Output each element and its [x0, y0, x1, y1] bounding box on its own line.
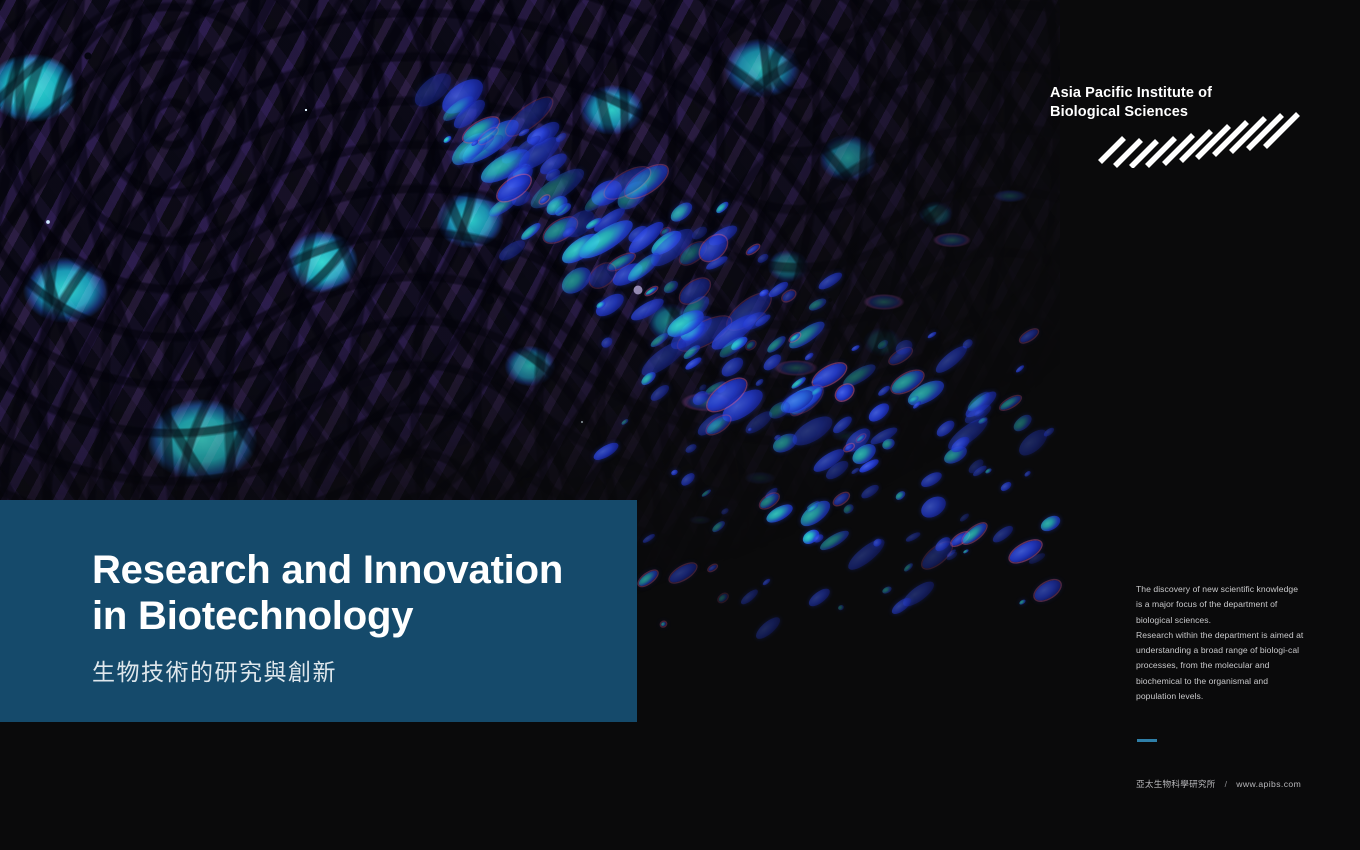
artwork-cell — [644, 285, 657, 296]
accent-rule-divider — [1137, 739, 1157, 742]
artwork-cell — [637, 568, 660, 588]
artwork-cell — [761, 351, 784, 373]
page-subtitle-zh: 生物技術的研究與創新 — [92, 653, 637, 687]
artwork-cell — [866, 400, 893, 425]
artwork-cell — [859, 482, 881, 501]
artwork-cell — [739, 587, 760, 606]
artwork-cell — [818, 528, 852, 554]
artwork-cell — [720, 507, 729, 515]
artwork-cell — [648, 382, 671, 404]
artwork-cell — [905, 531, 922, 544]
footer-org-zh: 亞太生物科學研究所 — [1136, 778, 1216, 790]
artwork-cell — [998, 393, 1021, 411]
artwork-cell — [990, 523, 1016, 546]
artwork-cell — [830, 413, 854, 435]
artwork-cell — [962, 549, 968, 555]
artwork-cell — [600, 335, 615, 350]
artwork-cell — [837, 604, 845, 612]
artwork-cell — [1031, 576, 1063, 604]
artwork-cell — [496, 237, 528, 264]
artwork-cell — [667, 560, 699, 586]
artwork-cell — [753, 614, 784, 643]
footer-separator: / — [1225, 779, 1228, 789]
artwork-cell — [717, 593, 728, 604]
artwork-cell — [1018, 327, 1039, 344]
artwork-cell — [628, 295, 667, 325]
artwork-cell — [761, 578, 771, 587]
title-panel: Research and Innovation in Biotechnology… — [0, 500, 637, 722]
artwork-cell — [591, 439, 620, 462]
artwork-cell — [1015, 364, 1025, 373]
artwork-cell — [684, 442, 698, 454]
artwork-cell — [1038, 513, 1063, 534]
artwork-cell — [917, 492, 950, 522]
artwork-cell — [701, 488, 713, 498]
artwork-cell — [660, 620, 667, 626]
artwork-cell — [641, 532, 655, 544]
poster-canvas: Asia Pacific Institute of Biological Sci… — [0, 0, 1360, 850]
artwork-cell — [756, 252, 769, 264]
artwork-cell — [894, 489, 907, 501]
artwork-cell — [919, 469, 945, 490]
artwork-cell — [786, 317, 829, 353]
artwork-cell — [1018, 599, 1026, 606]
artwork-cell — [621, 418, 630, 426]
artwork-cell — [807, 296, 828, 313]
body-paragraph: The discovery of new scientific knowledg… — [1136, 582, 1306, 704]
artwork-cell — [788, 411, 837, 451]
artwork-cell — [804, 351, 815, 361]
artwork-cell — [714, 200, 730, 215]
artwork-cell — [999, 480, 1013, 493]
artwork-cell — [842, 503, 855, 516]
diagonal-bars-logo-icon — [1098, 104, 1303, 168]
artwork-cell — [679, 471, 697, 488]
artwork-cell — [903, 562, 914, 573]
page-title: Research and Innovation in Biotechnology — [92, 548, 637, 639]
artwork-cell — [764, 334, 787, 356]
artwork-cell — [711, 519, 727, 534]
artwork-cell — [754, 378, 764, 388]
artwork-cell — [746, 243, 760, 255]
artwork-cell — [1011, 412, 1035, 435]
artwork-cell — [806, 586, 833, 610]
artwork-cell — [1023, 471, 1030, 478]
artwork-cell — [877, 385, 891, 398]
artwork-cell — [442, 135, 452, 144]
artwork-cell — [668, 199, 696, 226]
artwork-cell — [707, 564, 716, 572]
artwork-cell — [816, 269, 844, 292]
artwork-cell — [851, 344, 861, 352]
artwork-cell — [670, 468, 679, 476]
footer-url[interactable]: www.apibs.com — [1236, 779, 1301, 789]
footer: 亞太生物科學研究所 / www.apibs.com — [1136, 778, 1301, 790]
artwork-cell — [927, 331, 938, 340]
artwork-cell — [959, 512, 971, 523]
artwork-cell — [662, 278, 681, 296]
artwork-cell — [881, 585, 893, 595]
artwork-cell — [845, 534, 890, 574]
artwork-cell — [876, 338, 890, 351]
